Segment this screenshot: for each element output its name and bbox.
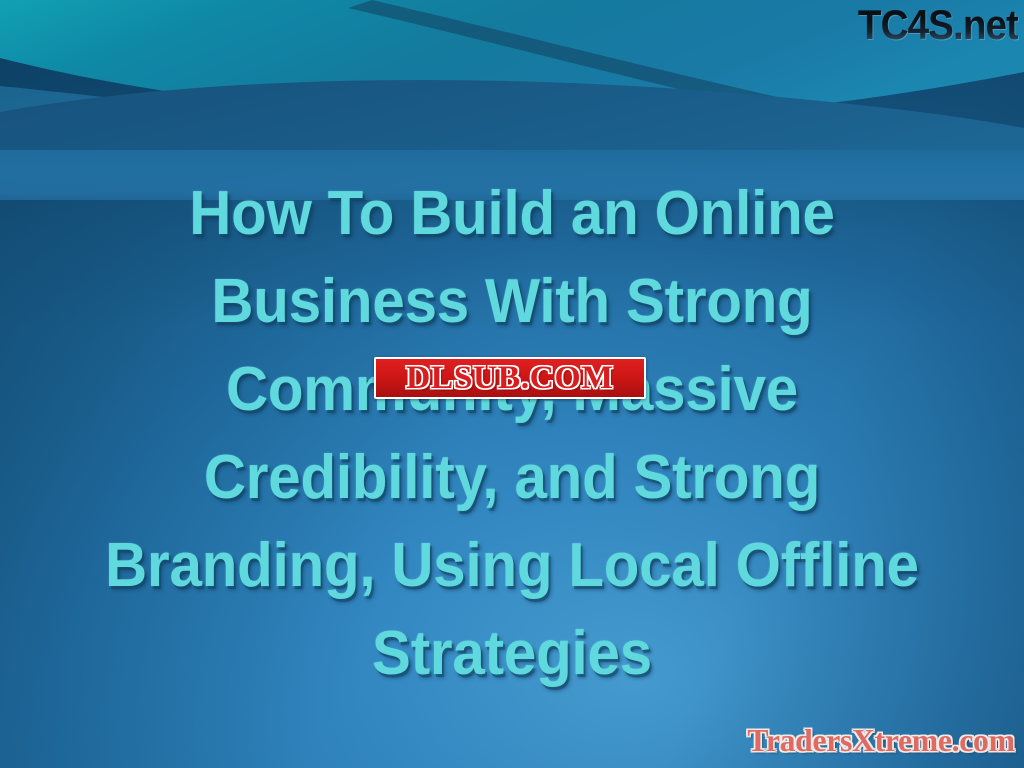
title-line: Strategies <box>76 610 948 698</box>
watermark-dlsub: DLSUB.COM <box>374 357 646 399</box>
title-line: Branding, Using Local Offline <box>76 522 948 610</box>
slide-title: How To Build an Online Business With Str… <box>0 170 1024 698</box>
watermark-tc4s: TC4S.net <box>858 2 1018 48</box>
title-line: How To Build an Online <box>76 170 948 258</box>
title-line: Business With Strong <box>76 258 948 346</box>
watermark-tradersxtreme: TradersXtreme.com <box>747 722 1014 758</box>
watermark-dlsub-label: DLSUB.COM <box>406 362 614 395</box>
presentation-slide: How To Build an Online Business With Str… <box>0 0 1024 768</box>
title-line: Credibility, and Strong <box>76 434 948 522</box>
watermark-dlsub-plate: DLSUB.COM <box>376 359 644 397</box>
